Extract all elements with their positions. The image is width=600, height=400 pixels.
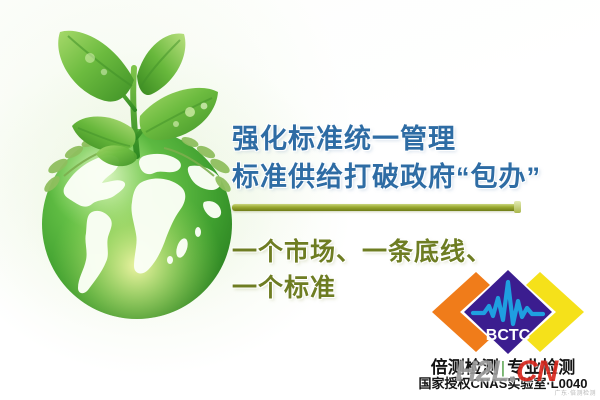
bctc-logo-mark-icon: BCTC — [432, 268, 584, 356]
headline-line-1: 强化标准统一管理 — [232, 117, 456, 156]
subtitle-line-2: 一个标准 — [232, 268, 336, 304]
site-watermark: H2L.CN — [455, 355, 557, 389]
bctc-wordmark-text: BCTC — [486, 327, 531, 344]
subtitle-line-1: 一个市场、一条底线、 — [232, 232, 492, 268]
watermark-text-gray: H2L. — [455, 355, 516, 388]
horizontal-divider-bar — [232, 204, 517, 211]
corner-credit-mark: 广东·倍测检测 — [555, 388, 597, 397]
headline-line-2: 标准供给打破政府“包办” — [232, 155, 541, 194]
watermark-text-red: CN — [516, 355, 557, 388]
green-globe-with-sprout-illustration — [18, 6, 256, 336]
poster-canvas: 强化标准统一管理 标准供给打破政府“包办” 一个市场、一条底线、 一个标准 BC… — [0, 0, 600, 400]
